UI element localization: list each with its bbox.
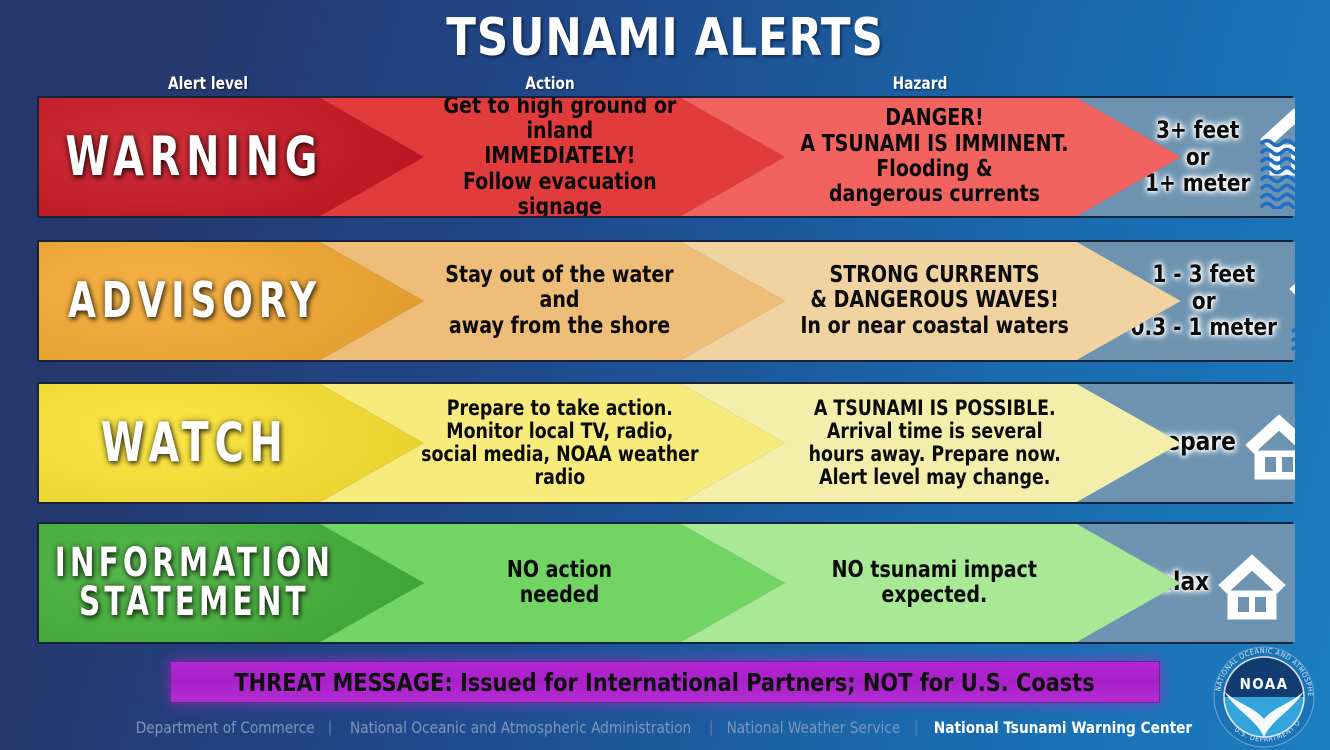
column-header-action: Action xyxy=(469,74,631,94)
footer-separator: | xyxy=(319,719,341,737)
level-label: INFORMATIONSTATEMENT xyxy=(55,544,408,622)
column-header-hazard: Hazard xyxy=(839,74,1001,94)
level-label: WATCH xyxy=(101,417,363,470)
page-title: TSUNAMI ALERTS xyxy=(47,8,1284,68)
level-label: ADVISORY xyxy=(68,277,396,325)
footer-item-national-tsunami-warning-center: National Tsunami Warning Center xyxy=(934,718,1192,737)
threat-message-text: THREAT MESSAGE: Issued for International… xyxy=(235,668,1095,697)
alert-row-information-statement: INFORMATIONSTATEMENT NO actionneeded NO … xyxy=(37,522,1293,644)
noaa-wordmark: NOAA xyxy=(1240,675,1289,693)
alert-row-watch: WATCH Prepare to take action.Monitor loc… xyxy=(37,382,1293,504)
alert-row-advisory: ADVISORY Stay out of the waterandaway fr… xyxy=(37,240,1293,362)
footer-separator: | xyxy=(700,719,722,737)
noaa-logo: NOAA NATIONAL OCEANIC AND ATMOSPHERIC AD… xyxy=(1212,645,1316,749)
footer: Department of Commerce | National Oceani… xyxy=(0,718,1330,737)
alert-row-warning: WARNING Get to high ground or inlandIMME… xyxy=(37,96,1293,218)
house-icon xyxy=(1243,391,1315,495)
footer-item-national-weather-service: National Weather Service xyxy=(727,718,901,737)
house-water-low-icon xyxy=(1287,249,1330,353)
column-header-alert-level: Alert level xyxy=(127,74,289,94)
threat-message-bar: THREAT MESSAGE: Issued for International… xyxy=(170,661,1160,703)
level-label: WARNING xyxy=(66,131,398,184)
action-text: NO actionneeded xyxy=(428,558,677,609)
hazard-text: A TSUNAMI IS POSSIBLE.Arrival time is se… xyxy=(729,397,1132,489)
hazard-text: NO tsunami impactexpected. xyxy=(753,558,1109,609)
house-icon xyxy=(1216,531,1288,635)
tsunami-alerts-infographic: TSUNAMI ALERTS Alert level Action Hazard… xyxy=(0,0,1330,750)
footer-item-department-of-commerce: Department of Commerce xyxy=(135,718,314,737)
house-flooded-icon xyxy=(1258,105,1330,209)
footer-item-noaa: National Oceanic and Atmospheric Adminis… xyxy=(350,718,691,737)
footer-separator: | xyxy=(905,719,927,737)
